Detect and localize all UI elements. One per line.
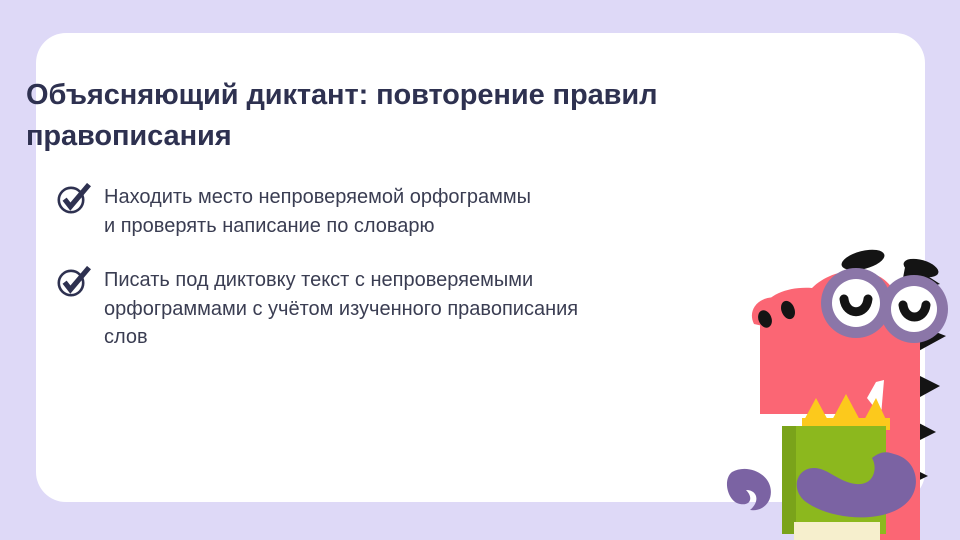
list-item-label: Находить место непроверяемой орфограммы … — [104, 183, 746, 240]
check-circle-icon — [56, 183, 96, 215]
list-item: Находить место непроверяемой орфограммы … — [26, 183, 746, 240]
page-title: Объясняющий диктант: повторение правил п… — [26, 75, 686, 157]
objectives-list: Находить место непроверяемой орфограммы … — [26, 183, 746, 351]
list-item: Писать под диктовку текст с непроверяемы… — [26, 266, 746, 351]
check-circle-icon — [56, 266, 96, 298]
list-item-label: Писать под диктовку текст с непроверяемы… — [104, 266, 746, 351]
slide-root: Объясняющий диктант: повторение правил п… — [0, 0, 960, 540]
dinosaur-mascot — [724, 246, 960, 540]
content-area: Объясняющий диктант: повторение правил п… — [26, 75, 746, 351]
